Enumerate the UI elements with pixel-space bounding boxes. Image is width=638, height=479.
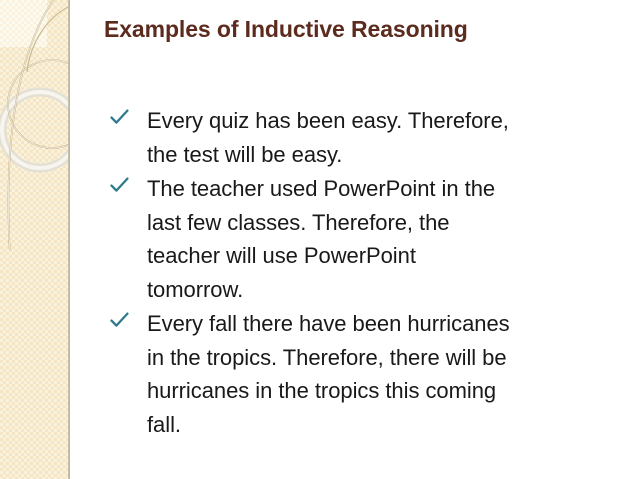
check-icon	[110, 307, 147, 333]
list-item: The teacher used PowerPoint in the last …	[110, 172, 630, 306]
check-icon-glyph	[110, 177, 129, 194]
bullet-list: Every quiz has been easy. Therefore, the…	[110, 104, 630, 442]
check-icon-glyph	[110, 312, 129, 329]
page-title: Examples of Inductive Reasoning	[104, 16, 624, 43]
slide: Examples of Inductive Reasoning Every qu…	[0, 0, 638, 479]
side-band-edge	[68, 0, 70, 479]
list-item-text: Every quiz has been easy. Therefore, the…	[147, 104, 630, 171]
decorative-side-band	[0, 0, 70, 479]
decorative-rings-art	[0, 0, 70, 250]
list-item: Every quiz has been easy. Therefore, the…	[110, 104, 630, 171]
check-icon	[110, 104, 147, 130]
check-icon	[110, 172, 147, 198]
list-item-text: The teacher used PowerPoint in the last …	[147, 172, 630, 306]
check-icon-glyph	[110, 109, 129, 126]
list-item: Every fall there have been hurricanes in…	[110, 307, 630, 441]
list-item-text: Every fall there have been hurricanes in…	[147, 307, 630, 441]
